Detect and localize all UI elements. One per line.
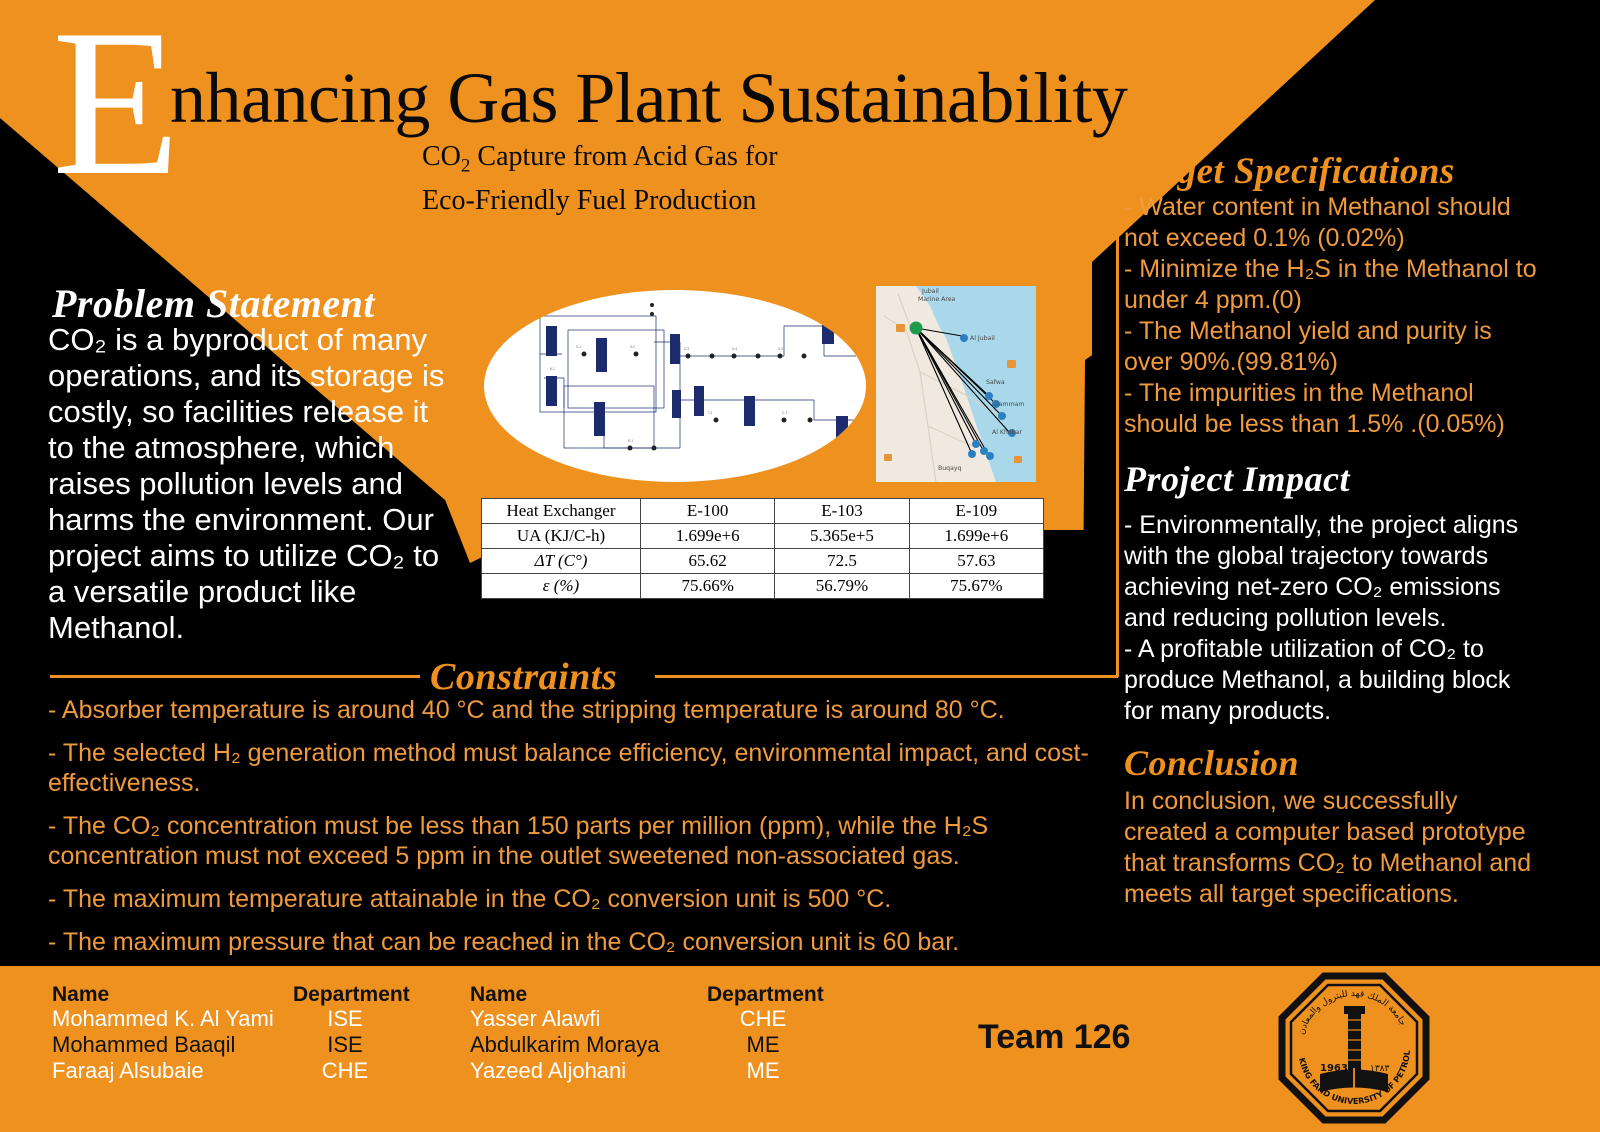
subtitle-line1-post: Capture from Acid Gas for	[470, 141, 777, 172]
table-cell: 56.79%	[775, 574, 909, 599]
footer-member-dept: ISE	[320, 1006, 370, 1032]
footer-member-name: Faraaj Alsubaie	[52, 1058, 274, 1084]
footer-member-dept: ME	[738, 1032, 788, 1058]
constraints-heading: Constraints	[430, 655, 617, 699]
kfupm-seal-svg: 1963 ١٣٨٣ KING FAHD UNIVERSITY OF PETROL…	[1278, 972, 1430, 1124]
table-cell: 1.699e+6	[909, 524, 1043, 549]
title-dropcap: E	[52, 18, 180, 188]
footer-members-left-names: Mohammed K. Al YamiMohammed BaaqilFaraaj…	[52, 1006, 274, 1084]
seal-year: 1963	[1320, 1063, 1348, 1074]
footer-members-right-names: Yasser AlawfiAbdulkarim MorayaYazeed Alj…	[470, 1006, 660, 1084]
table-cell: 75.67%	[909, 574, 1043, 599]
list-item: - The CO₂ concentration must be less tha…	[48, 811, 1108, 871]
svg-text:S-5: S-5	[778, 347, 783, 351]
footer-member-name: Mohammed Baaqil	[52, 1032, 274, 1058]
svg-text:R-1: R-1	[628, 439, 633, 443]
list-item: - The maximum temperature attainable in …	[48, 884, 1108, 914]
problem-statement-heading: Problem Statement	[52, 280, 375, 327]
list-item: - Absorber temperature is around 40 °C a…	[48, 695, 1108, 725]
table-cell: 5.365e+5	[775, 524, 909, 549]
subtitle-co2-pre: CO	[422, 141, 461, 172]
footer-member-dept: ME	[738, 1058, 788, 1084]
footer-members-left-depts: ISEISECHE	[320, 1006, 370, 1084]
footer-member-name: Yasser Alawfi	[470, 1006, 660, 1032]
table-cell: 75.66%	[641, 574, 775, 599]
footer-dept-header-1: Department	[293, 983, 410, 1007]
list-item: - A profitable utilization of CO₂ to pro…	[1124, 634, 1544, 727]
constraints-rule-right	[655, 675, 1118, 678]
svg-text:S-3: S-3	[684, 347, 689, 351]
svg-text:Al Khobar: Al Khobar	[992, 429, 1022, 436]
table-row: Heat ExchangerE-100E-103E-109	[482, 499, 1044, 524]
page-subtitle: CO2 Capture from Acid Gas for Eco-Friend…	[422, 140, 778, 218]
svg-text:T-1: T-1	[707, 411, 713, 415]
table-row-label: UA (KJ/C-h)	[482, 524, 641, 549]
table-cell: E-100	[641, 499, 775, 524]
process-flow-diagram-figure: S-1S-2 S-3S-4 S-5V-1 R-1T-1 C-1K-1	[484, 290, 866, 482]
svg-text:Buqayq: Buqayq	[938, 465, 962, 472]
table-cell: 72.5	[775, 549, 909, 574]
constraints-list: - Absorber temperature is around 40 °C a…	[48, 695, 1108, 970]
subtitle-line2: Eco-Friendly Fuel Production	[422, 184, 778, 218]
svg-text:S-2: S-2	[630, 345, 635, 349]
svg-text:S-4: S-4	[732, 347, 737, 351]
table-row: UA (KJ/C-h)1.699e+65.365e+51.699e+6	[482, 524, 1044, 549]
table-cell: 57.63	[909, 549, 1043, 574]
list-item: - The maximum pressure that can be reach…	[48, 927, 1108, 957]
table-row: ΔT (C°)65.6272.557.63	[482, 549, 1044, 574]
svg-text:Dammam: Dammam	[994, 401, 1024, 408]
table-cell: 1.699e+6	[641, 524, 775, 549]
target-specifications-heading: Target Specifications	[1124, 150, 1544, 193]
svg-text:Jubail: Jubail	[921, 288, 939, 295]
svg-text:C-1: C-1	[782, 411, 787, 415]
footer-name-header-1: Name	[52, 983, 109, 1007]
site-location-map: Jubail Marine Area Al Jubail Safwa Damma…	[876, 286, 1036, 482]
svg-text:Safwa: Safwa	[986, 379, 1005, 386]
subtitle-co2-sub: 2	[461, 156, 471, 177]
svg-text:Marine Area: Marine Area	[918, 296, 956, 303]
footer-member-dept: CHE	[320, 1058, 370, 1084]
constraints-rule-left	[50, 675, 420, 678]
footer-member-name: Mohammed K. Al Yami	[52, 1006, 274, 1032]
site-location-map-svg: Jubail Marine Area Al Jubail Safwa Damma…	[876, 286, 1036, 482]
table-row-label: ΔT (C°)	[482, 549, 641, 574]
table-cell: E-109	[909, 499, 1043, 524]
svg-text:Al Jubail: Al Jubail	[970, 335, 995, 342]
vertical-divider-rule	[1116, 124, 1119, 677]
list-item: - The Methanol yield and purity is over …	[1124, 316, 1544, 378]
seal-year-arabic: ١٣٨٣	[1370, 1064, 1390, 1074]
heat-exchanger-table: Heat ExchangerE-100E-103E-109UA (KJ/C-h)…	[481, 498, 1044, 599]
footer-member-dept: ISE	[320, 1032, 370, 1058]
footer-members-right-depts: CHEMEME	[738, 1006, 788, 1084]
list-item: - Water content in Methanol should not e…	[1124, 192, 1544, 254]
table-row-label: ε (%)	[482, 574, 641, 599]
table-row: ε (%)75.66%56.79%75.67%	[482, 574, 1044, 599]
target-specifications-list: - Water content in Methanol should not e…	[1124, 192, 1544, 440]
svg-text:S-1: S-1	[576, 345, 581, 349]
footer-dept-header-2: Department	[707, 983, 824, 1007]
problem-statement-body: CO₂ is a byproduct of many operations, a…	[48, 322, 448, 646]
footer-member-name: Yazeed Aljohani	[470, 1058, 660, 1084]
project-impact-heading: Project Impact	[1124, 458, 1544, 500]
list-item: - The selected H₂ generation method must…	[48, 738, 1108, 798]
conclusion-body: In conclusion, we successfully created a…	[1124, 786, 1544, 910]
footer-member-dept: CHE	[738, 1006, 788, 1032]
conclusion-heading: Conclusion	[1124, 742, 1544, 784]
project-impact-list: - Environmentally, the project aligns wi…	[1124, 510, 1544, 727]
list-item: - Environmentally, the project aligns wi…	[1124, 510, 1544, 634]
heat-exchanger-table-body: Heat ExchangerE-100E-103E-109UA (KJ/C-h)…	[482, 499, 1044, 599]
svg-text:V-1: V-1	[814, 317, 819, 321]
list-item: - Minimize the H₂S in the Methanol to un…	[1124, 254, 1544, 316]
footer-name-header-2: Name	[470, 983, 527, 1007]
process-flow-diagram-svg: S-1S-2 S-3S-4 S-5V-1 R-1T-1 C-1K-1	[484, 290, 866, 482]
table-cell: 65.62	[641, 549, 775, 574]
footer-member-name: Abdulkarim Moraya	[470, 1032, 660, 1058]
team-number-label: Team 126	[978, 1018, 1130, 1057]
table-row-label: Heat Exchanger	[482, 499, 641, 524]
kfupm-seal-logo: 1963 ١٣٨٣ KING FAHD UNIVERSITY OF PETROL…	[1278, 972, 1430, 1124]
page-title: nhancing Gas Plant Sustainability	[170, 60, 1127, 136]
table-cell: E-103	[775, 499, 909, 524]
list-item: - The impurities in the Methanol should …	[1124, 378, 1544, 440]
poster-canvas: E nhancing Gas Plant Sustainability CO2 …	[0, 0, 1600, 1132]
svg-text:K-1: K-1	[550, 367, 555, 371]
